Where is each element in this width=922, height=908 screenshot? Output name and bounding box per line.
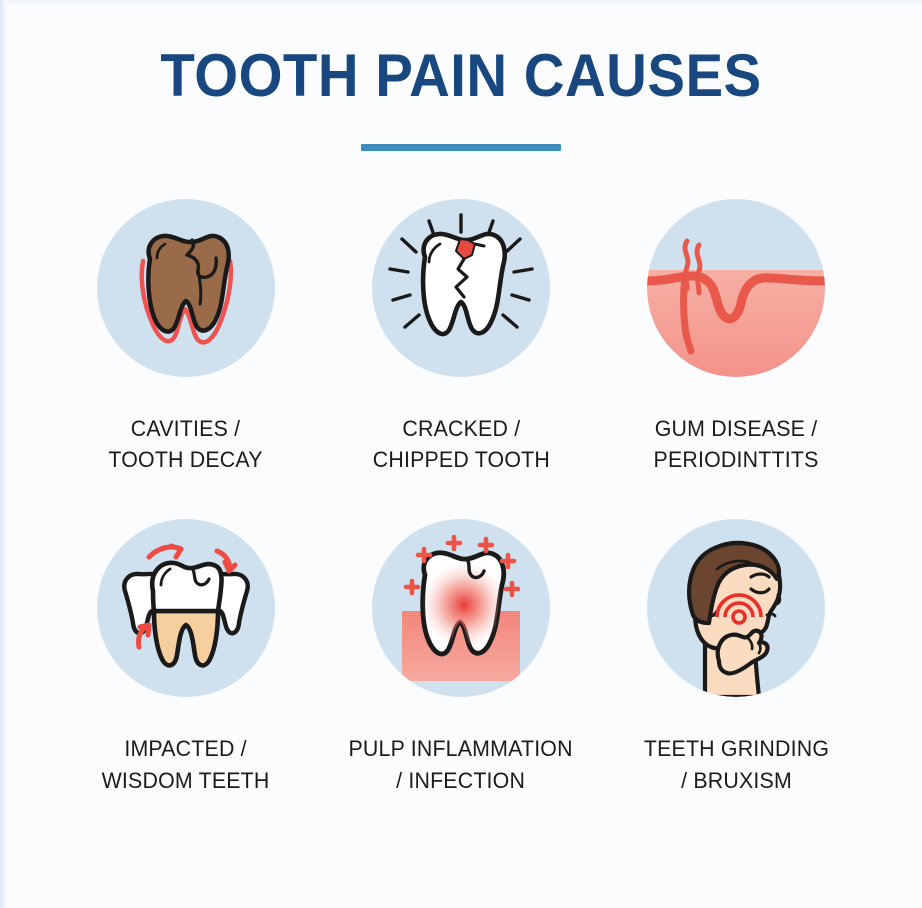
jaw-pain-head-icon (647, 519, 825, 697)
cause-card-impacted-teeth[interactable]: IMPACTED / WISDOM TEETH (48, 519, 323, 795)
gum-disease-icon (647, 199, 825, 377)
cracked-tooth-icon (372, 199, 550, 377)
title-block: TOOTH PAIN CAUSES (0, 0, 922, 151)
cause-card-cracked-tooth[interactable]: CRACKED / CHIPPED TOOTH (323, 199, 598, 475)
cause-label-gum-disease: GUM DISEASE / PERIODINTTITS (654, 413, 819, 475)
cause-label-cracked-tooth: CRACKED / CHIPPED TOOTH (372, 413, 549, 475)
cause-label-teeth-grinding: TEETH GRINDING / BRUXISM (644, 733, 829, 795)
tooth-pain-causes-poster: TOOTH PAIN CAUSES CAVITIES / TOOTH DECAY (0, 0, 922, 908)
cause-label-impacted-teeth: IMPACTED / WISDOM TEETH (102, 733, 270, 795)
cause-card-teeth-grinding[interactable]: TEETH GRINDING / BRUXISM (599, 519, 874, 795)
icon-circle-impacted-teeth (97, 519, 275, 697)
icon-circle-teeth-grinding (647, 519, 825, 697)
title-underline-rule (361, 144, 561, 151)
icon-circle-gum-disease (647, 199, 825, 377)
causes-grid: CAVITIES / TOOTH DECAY (0, 199, 922, 796)
page-title: TOOTH PAIN CAUSES (28, 46, 895, 106)
impacted-tooth-icon (97, 519, 275, 697)
cause-card-cavities[interactable]: CAVITIES / TOOTH DECAY (48, 199, 323, 475)
inflammation-squiggle-icon (697, 245, 700, 293)
icon-circle-cracked-tooth (372, 199, 550, 377)
cause-card-pulp-inflammation[interactable]: PULP INFLAMMATION / INFECTION (323, 519, 598, 795)
icon-circle-pulp-inflammation (372, 519, 550, 697)
inflammation-squiggle-icon (685, 241, 688, 289)
decayed-tooth-icon (97, 199, 275, 377)
cause-label-pulp-inflammation: PULP INFLAMMATION / INFECTION (349, 733, 573, 795)
cause-card-gum-disease[interactable]: GUM DISEASE / PERIODINTTITS (599, 199, 874, 475)
pulp-inflammation-icon (372, 519, 550, 697)
cause-label-cavities: CAVITIES / TOOTH DECAY (109, 413, 263, 475)
icon-circle-cavities (97, 199, 275, 377)
